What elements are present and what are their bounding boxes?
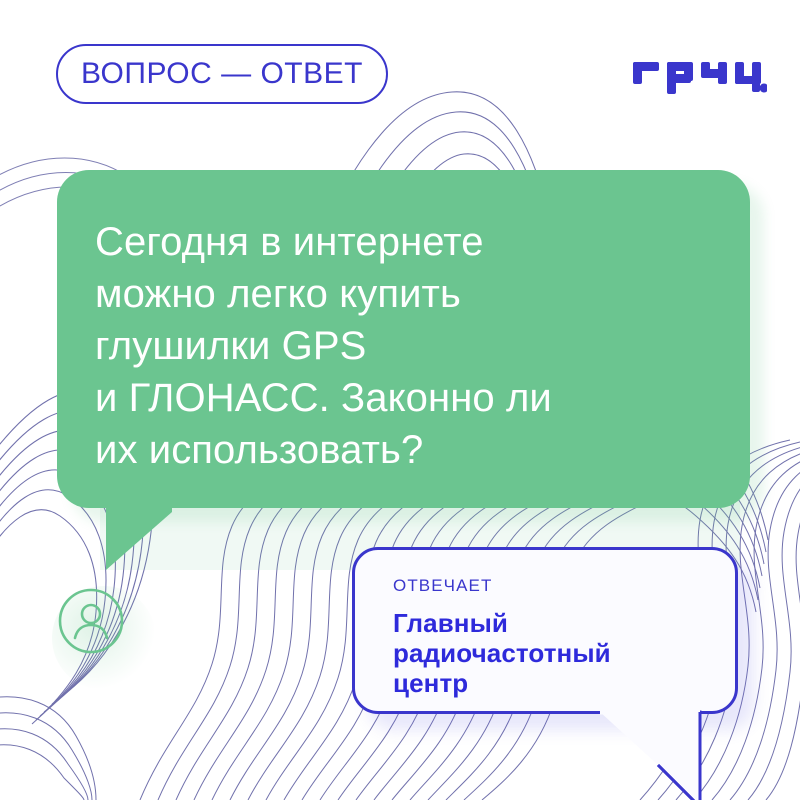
answer-bubble-wrapper: ОТВЕЧАЕТ Главный радиочастотный центр (352, 547, 738, 714)
question-bubble-wrapper: Сегодня в интернете можно легко купить г… (57, 170, 750, 508)
grchc-logo: ГРЧЦ. (633, 52, 767, 94)
answer-title: Главный радиочастотный центр (393, 608, 715, 698)
answer-kicker: ОТВЕЧАЕТ (393, 577, 715, 594)
poster-canvas: ВОПРОС — ОТВЕТ (0, 0, 800, 800)
question-text: Сегодня в интернете можно легко купить г… (95, 216, 700, 476)
answer-bubble: ОТВЕЧАЕТ Главный радиочастотный центр (352, 547, 738, 714)
answer-bubble-tail (600, 707, 730, 800)
user-avatar-icon (58, 588, 124, 654)
question-bubble-tail (104, 506, 174, 572)
question-bubble: Сегодня в интернете можно легко купить г… (57, 170, 750, 508)
qa-badge-label: ВОПРОС — ОТВЕТ (81, 59, 363, 89)
qa-badge: ВОПРОС — ОТВЕТ (56, 44, 388, 104)
